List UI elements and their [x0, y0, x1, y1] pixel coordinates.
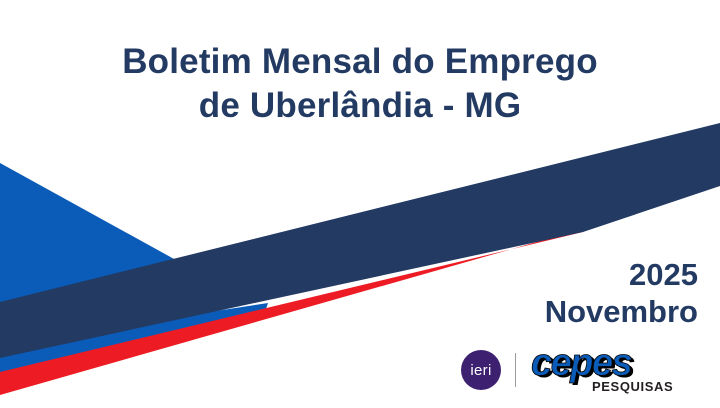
cover-slide: Boletim Mensal do Emprego de Uberlândia …: [0, 0, 720, 408]
logo-divider: [515, 353, 516, 387]
title-line-1: Boletim Mensal do Emprego: [0, 40, 720, 84]
page-title: Boletim Mensal do Emprego de Uberlândia …: [0, 40, 720, 128]
publication-month: Novembro: [545, 293, 698, 330]
cepes-logo-graphic: cepes cepes PESQUISAS: [530, 345, 702, 395]
title-line-2: de Uberlândia - MG: [0, 84, 720, 128]
ieri-logo-label: ieri: [470, 363, 491, 378]
publication-year: 2025: [545, 256, 698, 293]
cepes-subtitle: PESQUISAS: [592, 379, 673, 394]
logo-bar: ieri cepes cepes PESQUISAS: [461, 344, 702, 396]
publication-date: 2025 Novembro: [545, 256, 698, 330]
cepes-logo[interactable]: cepes cepes PESQUISAS: [530, 345, 702, 395]
ieri-logo[interactable]: ieri: [461, 350, 501, 390]
